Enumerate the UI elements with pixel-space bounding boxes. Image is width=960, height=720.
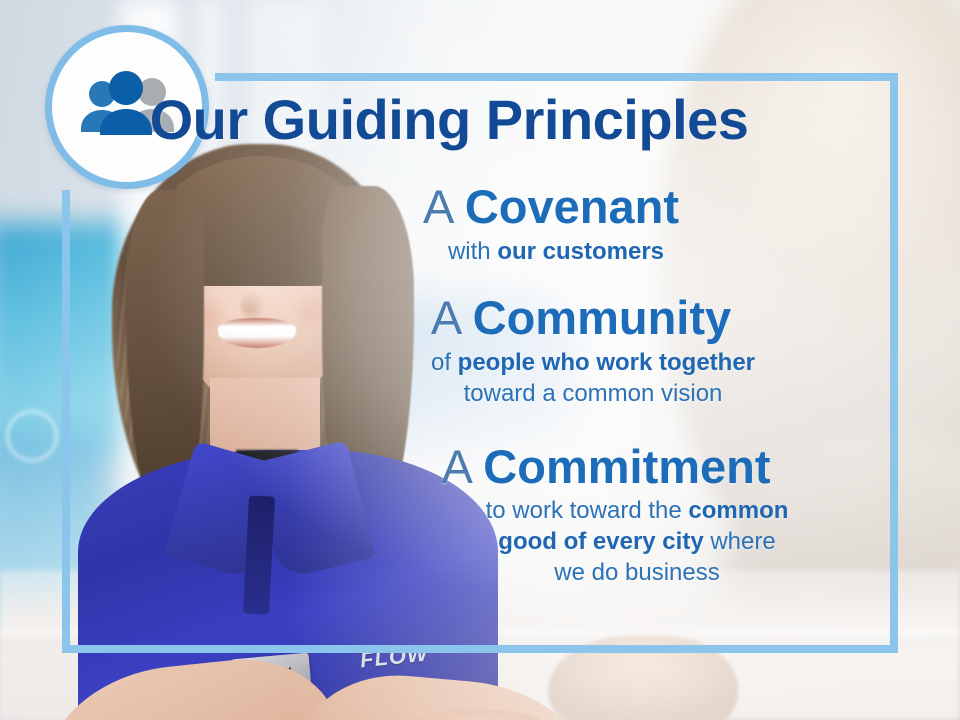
principle-keyword: Commitment — [483, 440, 770, 493]
principle-heading: A Commitment — [340, 442, 872, 493]
subtext-bold: common — [688, 497, 788, 524]
frame-border-left — [62, 190, 70, 653]
subtext-bold: good of every city — [498, 528, 703, 555]
principles-list: A Covenant with our customers A Communit… — [300, 182, 872, 599]
principle-heading: A Covenant — [300, 182, 802, 233]
subtext-bold: our customers — [497, 238, 664, 265]
subtext-plain: we do business — [554, 559, 719, 586]
subtext-line: toward a common vision — [324, 379, 862, 410]
guiding-principles-graphic: FLOW FLOW — [0, 0, 960, 720]
principle-article: A — [423, 180, 452, 233]
principle-subtext: with our customers — [300, 237, 802, 268]
subtext-plain-after: where — [704, 528, 776, 555]
page-title: Our Guiding Principles — [0, 92, 898, 148]
principle-heading: A Community — [300, 293, 862, 344]
principle-commitment: A Commitment to work toward the common g… — [300, 442, 872, 589]
principle-subtext: of people who work together toward a com… — [300, 348, 862, 409]
frame-border-bottom — [62, 645, 898, 653]
subtext-line: good of every city where — [402, 527, 872, 558]
principle-keyword: Covenant — [465, 180, 679, 233]
subtext-line: to work toward the common — [402, 496, 872, 527]
principle-keyword: Community — [473, 291, 732, 344]
subtext-line: with our customers — [448, 238, 664, 265]
subtext-plain: with — [448, 238, 497, 265]
principle-community: A Community of people who work together … — [300, 293, 872, 409]
frame-border-top — [215, 73, 898, 81]
subtext-line: we do business — [402, 558, 872, 589]
principle-covenant: A Covenant with our customers — [300, 182, 872, 267]
principle-article: A — [431, 291, 460, 344]
principle-subtext: to work toward the common good of every … — [340, 496, 872, 588]
subtext-plain: toward a common vision — [464, 380, 723, 407]
subtext-bold: people who work together — [458, 349, 755, 376]
principle-article: A — [441, 440, 470, 493]
subtext-plain: of — [431, 349, 458, 376]
frame-border-right — [890, 73, 898, 653]
subtext-line: of people who work together — [324, 348, 862, 379]
subtext-plain: to work toward the — [486, 497, 689, 524]
